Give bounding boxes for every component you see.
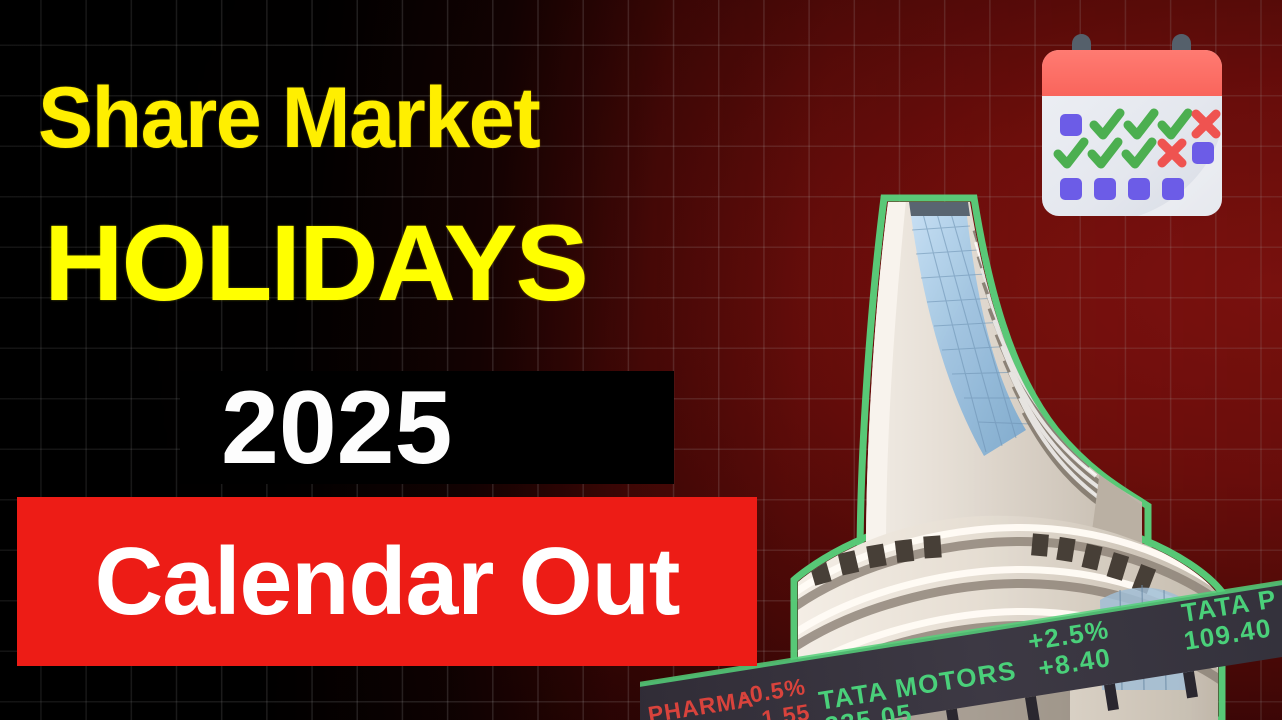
headline-line-holidays: HOLIDAYS xyxy=(44,212,587,314)
building-base xyxy=(770,490,1282,720)
thumbnail-canvas: N PHARMA -0.5% -1.55 TATA MOTORS 335.05 … xyxy=(0,0,1282,720)
headline-line-share-market: Share Market xyxy=(38,78,539,159)
headline-stack: Share Market HOLIDAYS 2025 Calendar Out xyxy=(0,0,800,720)
bse-building-image xyxy=(770,190,1282,720)
headline-line-year: 2025 xyxy=(221,372,641,484)
building-tower xyxy=(850,190,1170,570)
headline-line-calendar-out: Calendar Out xyxy=(21,497,754,666)
calendar-icon xyxy=(1026,28,1238,233)
